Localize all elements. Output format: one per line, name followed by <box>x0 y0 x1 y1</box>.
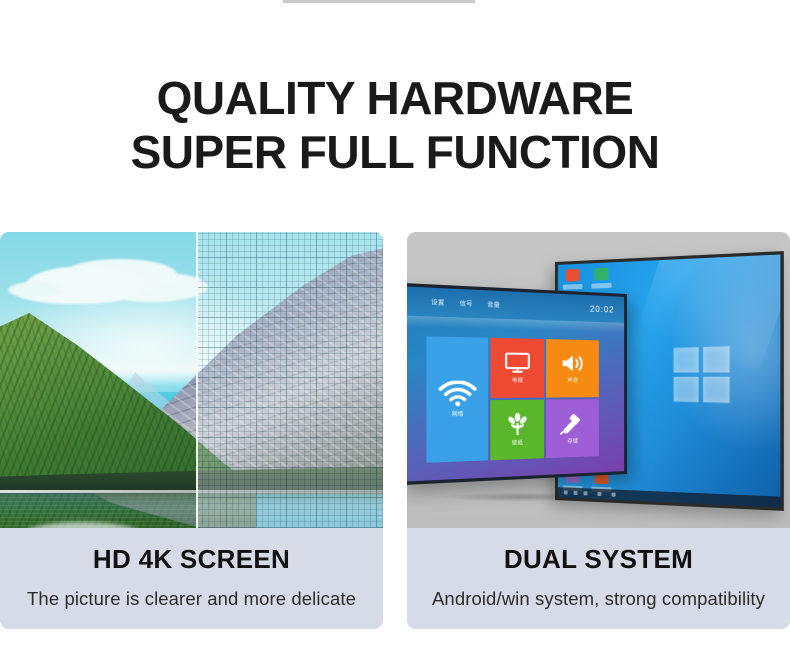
feature-card-hd-4k-screen[interactable]: HD 4K SCREEN The picture is clearer and … <box>0 232 383 629</box>
feature-card-dual-system[interactable]: 设置 信号 音量 20:02 <box>407 232 790 629</box>
monitor-icon <box>505 352 531 373</box>
tile-label: 壁纸 <box>512 439 523 447</box>
tile-sound[interactable]: 声音 <box>546 339 599 397</box>
pixel-grid-overlay <box>196 232 383 528</box>
tile-usb[interactable]: 存储 <box>546 399 599 458</box>
android-tile-grid: 网络 电视 <box>426 336 594 460</box>
flower-icon <box>505 412 531 436</box>
windows-logo <box>674 346 730 403</box>
android-topbar-item-settings[interactable]: 设置 <box>431 298 445 307</box>
windows-logo-pane-2 <box>703 346 730 372</box>
windows-logo-pane-3 <box>674 376 699 401</box>
card-caption-hd-4k-screen: HD 4K SCREEN The picture is clearer and … <box>0 528 383 629</box>
tile-label: 存储 <box>568 437 579 445</box>
card-title: DUAL SYSTEM <box>407 544 790 575</box>
headline-line-1: QUALITY HARDWARE <box>157 72 634 124</box>
tile-label: 声音 <box>568 377 579 384</box>
android-monitor: 设置 信号 音量 20:02 <box>407 283 627 486</box>
desktop-icon[interactable] <box>562 268 584 290</box>
tile-label: 电视 <box>512 377 523 384</box>
android-topbar-item-volume[interactable]: 音量 <box>487 300 500 309</box>
cloud-small-icon <box>8 282 62 298</box>
dual-system-illustration: 设置 信号 音量 20:02 <box>407 232 790 528</box>
pixel-grid-edge <box>196 232 198 528</box>
tile-tv[interactable]: 电视 <box>490 338 544 398</box>
android-clock: 20:02 <box>590 304 615 314</box>
page-headline: QUALITY HARDWARE SUPER FULL FUNCTION <box>0 72 790 180</box>
top-cut-off-divider <box>283 0 475 3</box>
windows-logo-pane-4 <box>703 376 730 402</box>
card-caption-dual-system: DUAL SYSTEM Android/win system, strong c… <box>407 528 790 629</box>
usb-icon <box>560 412 586 435</box>
desktop-icon[interactable] <box>590 266 612 288</box>
tile-wifi[interactable]: 网络 <box>426 336 488 462</box>
speaker-icon <box>560 353 586 374</box>
headline-line-2: SUPER FULL FUNCTION <box>0 126 790 180</box>
card-subtitle: Android/win system, strong compatibility <box>407 588 790 610</box>
android-topbar-item-signal[interactable]: 信号 <box>460 299 473 308</box>
card-subtitle: The picture is clearer and more delicate <box>0 588 383 610</box>
card-title: HD 4K SCREEN <box>0 544 383 575</box>
tile-label: 网络 <box>452 410 464 418</box>
dual-system-image: 设置 信号 音量 20:02 <box>407 232 790 528</box>
windows-logo-pane-1 <box>674 347 699 372</box>
wifi-icon <box>438 381 477 407</box>
feature-cards-row: HD 4K SCREEN The picture is clearer and … <box>0 232 790 629</box>
monitor-shadow <box>409 490 639 504</box>
lake-landscape-image <box>0 232 383 528</box>
tile-flower[interactable]: 壁纸 <box>490 400 544 461</box>
